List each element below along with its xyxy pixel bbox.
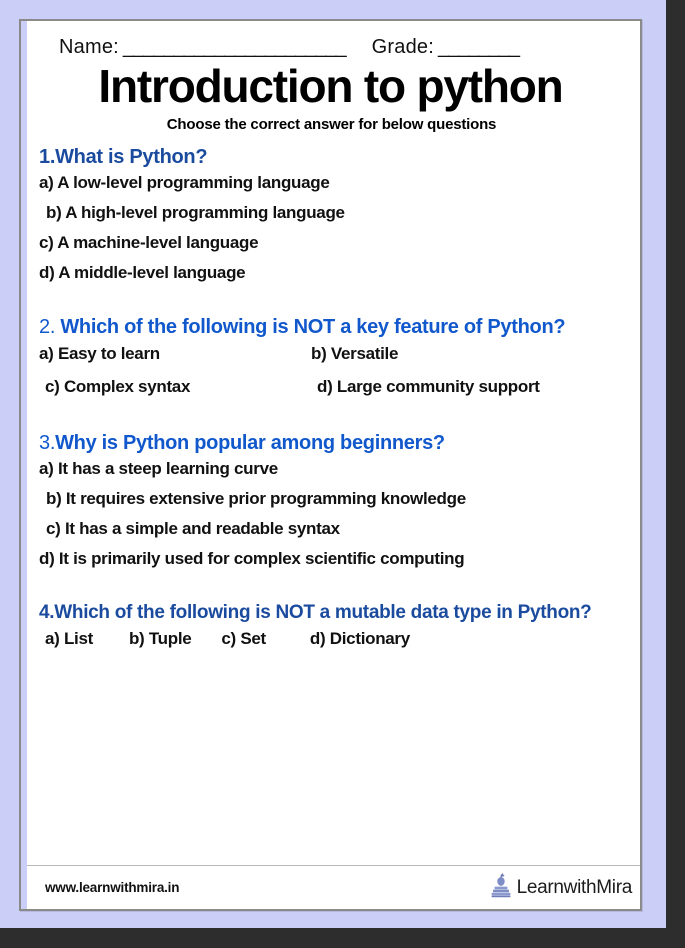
worksheet-page: Name: ______________________ Grade: ____…: [0, 0, 685, 948]
footer-website-url[interactable]: www.learnwithmira.in: [45, 880, 179, 895]
question-4-text: 4.Which of the following is NOT a mutabl…: [39, 601, 628, 625]
question-block-1: 1.What is Python? a) A low-level program…: [39, 145, 628, 281]
grade-label: Grade:: [372, 36, 434, 59]
question-4-number: 4.: [39, 602, 54, 623]
question-1-option-b[interactable]: b) A high-level programming language: [39, 204, 628, 221]
question-3-number: 3.: [39, 432, 55, 454]
worksheet-card: Name: ______________________ Grade: ____…: [19, 19, 642, 911]
page-title: Introduction to python: [39, 63, 628, 110]
worksheet-content: Name: ______________________ Grade: ____…: [27, 21, 640, 909]
apple-on-books-icon: [490, 872, 512, 903]
name-label: Name:: [59, 36, 119, 59]
question-3-prompt: Why is Python popular among beginners?: [55, 432, 445, 454]
question-1-option-a[interactable]: a) A low-level programming language: [39, 174, 628, 191]
question-1-option-d[interactable]: d) A middle-level language: [39, 264, 628, 281]
worksheet-footer: www.learnwithmira.in: [27, 865, 640, 909]
question-4-option-b[interactable]: b) Tuple: [129, 629, 191, 649]
page-subtitle: Choose the correct answer for below ques…: [39, 116, 628, 133]
brand-logo-group[interactable]: LearnwithMira: [490, 872, 632, 903]
question-2-option-row-1: a) Easy to learn b) Versatile: [39, 344, 628, 364]
question-2-option-d[interactable]: d) Large community support: [317, 377, 540, 397]
question-block-2: 2. Which of the following is NOT a key f…: [39, 315, 628, 397]
question-4-option-c[interactable]: c) Set: [221, 629, 266, 649]
question-1-option-c[interactable]: c) A machine-level language: [39, 234, 628, 251]
question-4-prompt: Which of the following is NOT a mutable …: [54, 602, 591, 623]
question-2-number: 2.: [39, 316, 60, 338]
question-block-3: 3.Why is Python popular among beginners?…: [39, 431, 628, 567]
question-4-option-d[interactable]: d) Dictionary: [310, 629, 410, 649]
question-3-option-c[interactable]: c) It has a simple and readable syntax: [39, 520, 628, 537]
question-2-option-c[interactable]: c) Complex syntax: [39, 377, 317, 397]
question-3-option-b[interactable]: b) It requires extensive prior programmi…: [39, 490, 628, 507]
grade-blank-line[interactable]: ________: [438, 36, 519, 59]
question-2-option-row-2: c) Complex syntax d) Large community sup…: [39, 377, 628, 397]
question-1-prompt: What is Python?: [55, 146, 207, 168]
name-grade-row: Name: ______________________ Grade: ____…: [39, 36, 628, 59]
question-block-4: 4.Which of the following is NOT a mutabl…: [39, 601, 628, 649]
name-blank-line[interactable]: ______________________: [123, 36, 346, 59]
question-3-option-d[interactable]: d) It is primarily used for complex scie…: [39, 550, 628, 567]
question-2-option-a[interactable]: a) Easy to learn: [39, 344, 311, 364]
question-4-options-row: a) List b) Tuple c) Set d) Dictionary: [39, 629, 628, 649]
question-3-text: 3.Why is Python popular among beginners?: [39, 431, 628, 456]
question-4-option-a[interactable]: a) List: [45, 629, 93, 649]
question-1-number: 1.: [39, 146, 55, 168]
question-1-text: 1.What is Python?: [39, 145, 628, 170]
question-2-prompt: Which of the following is NOT a key feat…: [60, 316, 565, 338]
question-3-option-a[interactable]: a) It has a steep learning curve: [39, 460, 628, 477]
question-2-option-b[interactable]: b) Versatile: [311, 344, 398, 364]
brand-name-label: LearnwithMira: [517, 877, 632, 899]
question-2-text: 2. Which of the following is NOT a key f…: [39, 315, 628, 340]
